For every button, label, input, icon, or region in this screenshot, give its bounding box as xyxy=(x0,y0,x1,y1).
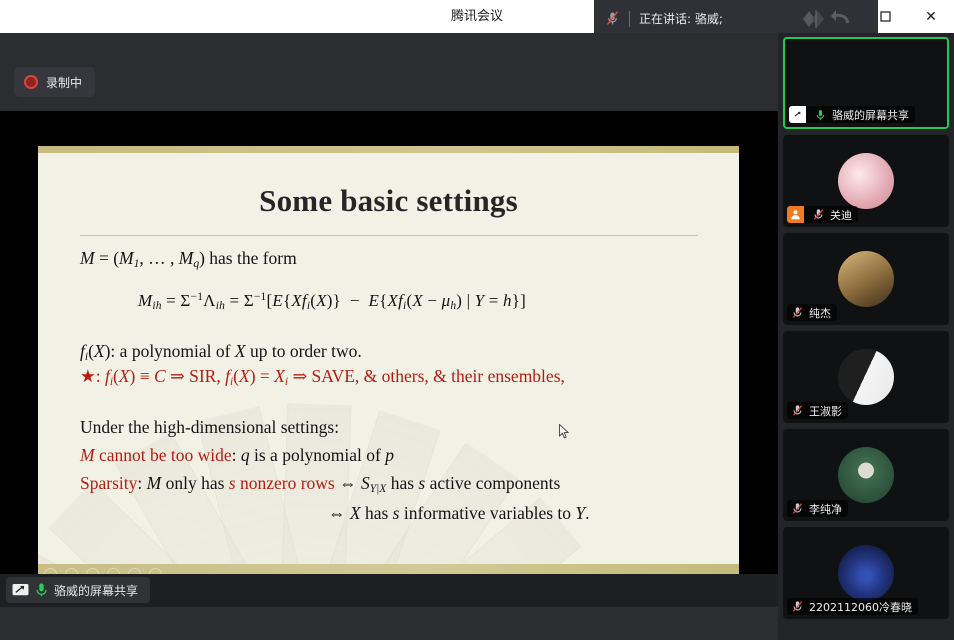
slide-line-equation: Mih = Σ−1Λih = Σ−1[E{Xfi(X)} − E{Xfi(X −… xyxy=(138,291,526,312)
speaking-status-pill: 正在讲话: 骆威; xyxy=(594,0,788,37)
host-badge-icon xyxy=(787,206,804,223)
microphone-on-icon xyxy=(35,582,48,598)
speaking-status-text: 正在讲话: 骆威; xyxy=(639,10,723,27)
screen-share-badge-icon xyxy=(789,106,806,123)
title-bar: 腾讯会议 – ✕ 正在讲话: 骆威; xyxy=(0,0,954,33)
meeting-stage: 录制中 Some basic settings M = (M1, … , Mq)… xyxy=(0,33,778,607)
slide-title: Some basic settings xyxy=(38,183,739,219)
slide-content: Some basic settings M = (M1, … , Mq) has… xyxy=(38,153,739,564)
participant-name: 王淑影 xyxy=(809,403,842,419)
mouse-cursor xyxy=(559,424,570,439)
restore-arrow-icon[interactable] xyxy=(831,9,853,29)
participant-tile[interactable]: 王淑影 xyxy=(783,331,949,423)
microphone-muted-icon xyxy=(790,599,805,614)
screen-share-icon xyxy=(12,583,29,598)
participant-name: 李纯净 xyxy=(809,501,842,517)
recording-badge: 录制中 xyxy=(14,67,95,97)
recording-label: 录制中 xyxy=(46,74,82,91)
participant-tile[interactable]: 关迪 xyxy=(783,135,949,227)
microphone-muted-icon xyxy=(790,305,805,320)
audio-wave-icon xyxy=(803,8,829,30)
nameplate: 关迪 xyxy=(787,206,858,223)
pill-divider xyxy=(629,11,630,27)
participant-tile[interactable]: 2202112060冷春晓 xyxy=(783,527,949,619)
slide-line-sparsity: Sparsity: M only has s nonzero rows ⇔ SY… xyxy=(80,473,560,495)
microphone-muted-icon xyxy=(811,207,826,222)
avatar xyxy=(838,153,894,209)
screen-share-chip[interactable]: 骆威的屏幕共享 xyxy=(6,577,150,603)
slide-top-band xyxy=(38,146,739,153)
participant-tile[interactable]: 李纯净 xyxy=(783,429,949,521)
slide-line-form: M = (M1, … , Mq) has the form xyxy=(80,248,297,270)
microphone-muted-icon xyxy=(790,403,805,418)
participant-tile[interactable]: 纯杰 xyxy=(783,233,949,325)
slide-line-wide: M cannot be too wide: q is a polynomial … xyxy=(80,445,394,466)
avatar xyxy=(838,251,894,307)
avatar xyxy=(838,349,894,405)
shared-slide[interactable]: Some basic settings M = (M1, … , Mq) has… xyxy=(38,146,739,584)
nameplate: 李纯净 xyxy=(787,500,848,517)
participant-name: 2202112060冷春晓 xyxy=(809,599,912,615)
close-button[interactable]: ✕ xyxy=(908,0,954,33)
microphone-on-icon xyxy=(813,107,828,122)
participant-rail[interactable]: 骆威的屏幕共享 关迪 纯杰 王淑影 xyxy=(778,33,954,640)
meeting-mini-toolbar[interactable] xyxy=(778,0,878,37)
avatar xyxy=(838,545,894,601)
slide-line-star: ★: fi(X) ≡ C ⇒ SIR, fi(X) = Xi ⇒ SAVE, &… xyxy=(80,366,565,388)
screen-share-label: 骆威的屏幕共享 xyxy=(54,582,138,599)
participant-name: 关迪 xyxy=(830,207,852,223)
slide-line-under: Under the high-dimensional settings: xyxy=(80,417,339,438)
maximize-icon xyxy=(880,11,891,22)
participant-name: 纯杰 xyxy=(809,305,831,321)
nameplate: 骆威的屏幕共享 xyxy=(789,106,915,123)
participant-name: 骆威的屏幕共享 xyxy=(832,107,909,123)
bottom-bar: 骆威的屏幕共享 xyxy=(0,574,778,607)
participant-tile[interactable]: 骆威的屏幕共享 xyxy=(783,37,949,129)
slide-line-iff: ⇔ X has s informative variables to Y. xyxy=(328,503,590,524)
avatar xyxy=(838,447,894,503)
microphone-muted-icon xyxy=(604,10,621,27)
avatar xyxy=(838,55,894,111)
microphone-muted-icon xyxy=(790,501,805,516)
nameplate: 2202112060冷春晓 xyxy=(787,598,918,615)
nameplate: 王淑影 xyxy=(787,402,848,419)
nameplate: 纯杰 xyxy=(787,304,837,321)
slide-title-rule xyxy=(80,235,698,236)
recording-dot-icon xyxy=(24,75,38,89)
slide-line-polynomial: fi(X): a polynomial of X up to order two… xyxy=(80,341,362,363)
